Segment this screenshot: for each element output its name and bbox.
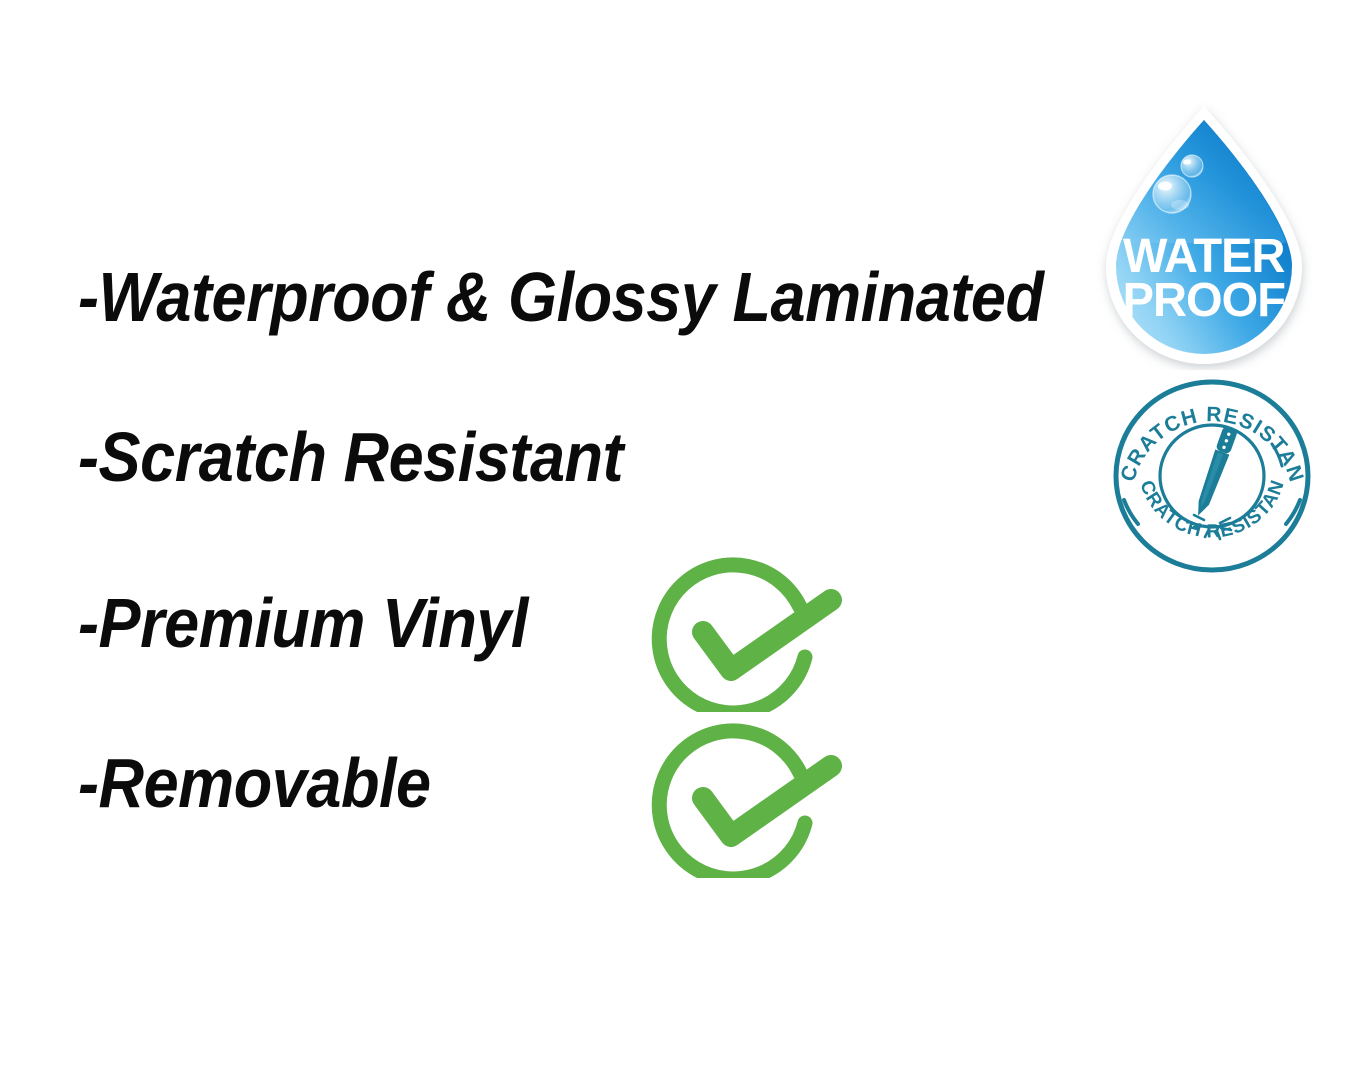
bubble-small-highlight bbox=[1183, 159, 1191, 164]
knife-stamp-icon: SCRATCH RESISTANT SCRATCH RESISTANT bbox=[1112, 378, 1312, 574]
checkmark-badge-removable bbox=[645, 718, 845, 878]
feature-line-scratch-resistant: -Scratch Resistant bbox=[78, 422, 623, 492]
checkmark-badge-premium-vinyl bbox=[645, 552, 845, 712]
bubble-large-lowlight bbox=[1171, 200, 1189, 210]
waterproof-badge: WATER PROOF bbox=[1096, 100, 1312, 370]
waterproof-line2: PROOF bbox=[1123, 274, 1285, 328]
circle-check-icon bbox=[645, 718, 845, 878]
water-drop-icon: WATER PROOF bbox=[1096, 100, 1312, 370]
feature-line-premium-vinyl: -Premium Vinyl bbox=[78, 588, 528, 658]
knife-graphic bbox=[1192, 425, 1238, 518]
feature-line-waterproof-glossy-laminated: -Waterproof & Glossy Laminated bbox=[78, 262, 1044, 332]
promo-feature-panel: -Waterproof & Glossy Laminated -Scratch … bbox=[0, 0, 1359, 1080]
feature-line-removable: -Removable bbox=[78, 748, 431, 818]
circle-check-icon bbox=[645, 552, 845, 712]
bubble-large-highlight bbox=[1158, 182, 1172, 191]
bubble-small-icon bbox=[1181, 155, 1203, 177]
scratch-resistant-badge: SCRATCH RESISTANT SCRATCH RESISTANT bbox=[1112, 378, 1312, 574]
